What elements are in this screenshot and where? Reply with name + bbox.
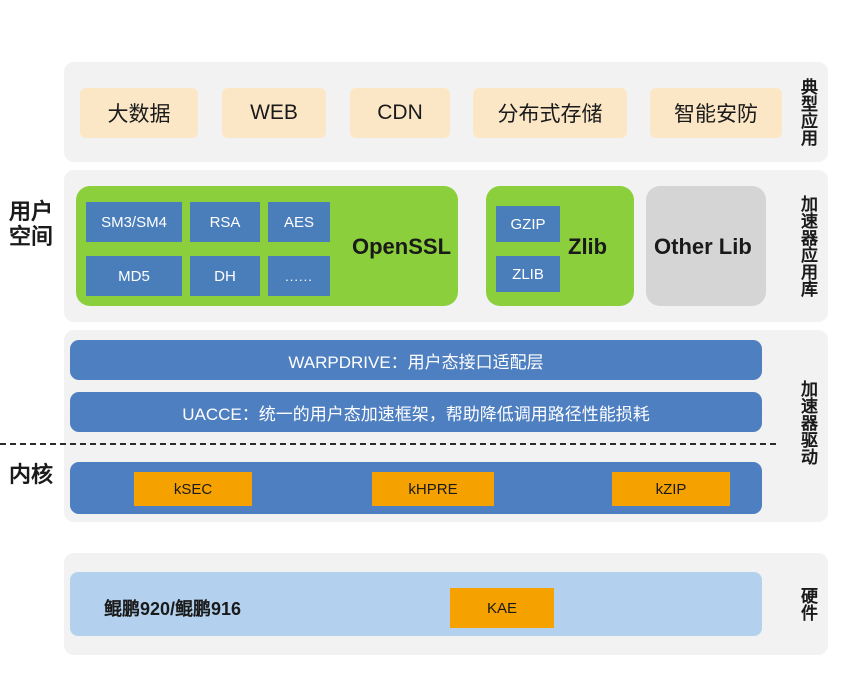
module-md5[interactable]: MD5 xyxy=(86,256,182,296)
module-sm3-sm4[interactable]: SM3/SM4 xyxy=(86,202,182,242)
side-label-typical-applications: 典型应用 xyxy=(791,66,817,158)
app-chip-bigdata[interactable]: 大数据 xyxy=(80,88,198,138)
zone-label-user-space: 用户空间 xyxy=(8,200,54,249)
module-aes[interactable]: AES xyxy=(268,202,330,242)
hardware-chip-name: 鲲鹏920/鲲鹏916 xyxy=(104,595,241,621)
uacce-bar[interactable]: UACCE：统一的用户态加速框架，帮助降低调用路径性能损耗 xyxy=(70,392,762,432)
other-lib-title: Other Lib xyxy=(654,234,752,260)
app-chip-cdn[interactable]: CDN xyxy=(350,88,450,138)
side-label-accelerator-libraries: 加速器应用库 xyxy=(791,176,817,316)
kernel-module-ksec[interactable]: kSEC xyxy=(134,472,252,506)
kernel-module-khpre[interactable]: kHPRE xyxy=(372,472,494,506)
module-gzip[interactable]: GZIP xyxy=(496,206,560,242)
openssl-title: OpenSSL xyxy=(352,234,451,260)
app-chip-smart-security[interactable]: 智能安防 xyxy=(650,88,782,138)
module-more[interactable]: ...... xyxy=(268,256,330,296)
side-label-hardware: 硬件 xyxy=(791,578,817,630)
kae-engine-box[interactable]: KAE xyxy=(450,588,554,628)
app-chip-web[interactable]: WEB xyxy=(222,88,326,138)
module-zlib[interactable]: ZLIB xyxy=(496,256,560,292)
side-label-accelerator-driver: 加速器驱动 xyxy=(791,344,817,500)
architecture-diagram: 大数据 WEB CDN 分布式存储 智能安防 典型应用 SM3/SM4 RSA … xyxy=(0,0,866,688)
zlib-title: Zlib xyxy=(568,234,607,260)
app-chip-distributed-storage[interactable]: 分布式存储 xyxy=(473,88,627,138)
user-kernel-divider xyxy=(0,443,776,445)
zone-label-kernel: 内核 xyxy=(8,463,54,488)
module-dh[interactable]: DH xyxy=(190,256,260,296)
warpdrive-bar[interactable]: WARPDRIVE：用户态接口适配层 xyxy=(70,340,762,380)
kernel-module-kzip[interactable]: kZIP xyxy=(612,472,730,506)
module-rsa[interactable]: RSA xyxy=(190,202,260,242)
